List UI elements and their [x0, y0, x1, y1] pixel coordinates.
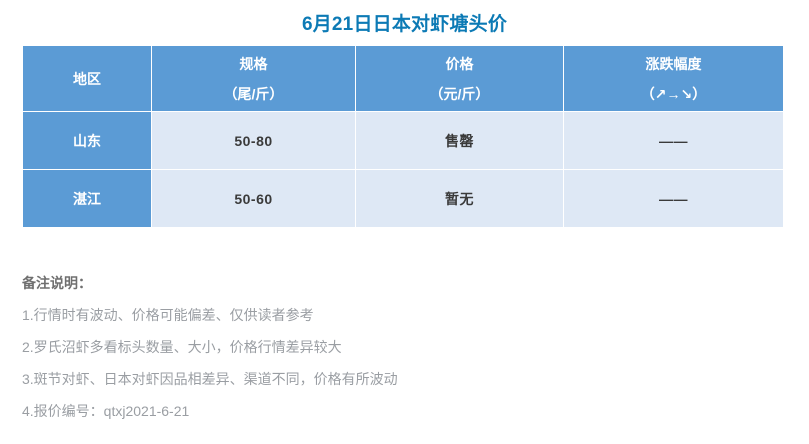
- column-header-region: 地区: [23, 46, 152, 112]
- price-report-page: 6月21日日本对虾塘头价 地区 规格 （尾/斤） 价格 （元/斤） 涨跌幅度: [0, 0, 809, 444]
- notes-title: 备注说明：: [22, 267, 722, 299]
- table-header-row: 地区 规格 （尾/斤） 价格 （元/斤） 涨跌幅度 （↗→↘）: [23, 46, 784, 112]
- cell-spec: 50-60: [152, 170, 356, 228]
- cell-region: 湛江: [23, 170, 152, 228]
- price-table: 地区 规格 （尾/斤） 价格 （元/斤） 涨跌幅度 （↗→↘） 山东 50-80…: [22, 45, 784, 228]
- cell-price: 售罄: [356, 112, 564, 170]
- cell-change: ——: [564, 112, 784, 170]
- column-header-spec-unit: （尾/斤）: [152, 79, 355, 109]
- trend-arrows-icon: （↗→↘）: [564, 79, 783, 109]
- note-item: 1.行情时有波动、价格可能偏差、仅供读者参考: [22, 299, 722, 331]
- note-item: 2.罗氏沼虾多看标头数量、大小，价格行情差异较大: [22, 331, 722, 363]
- column-header-price-label: 价格: [356, 49, 563, 79]
- page-title: 6月21日日本对虾塘头价: [0, 12, 809, 38]
- column-header-price: 价格 （元/斤）: [356, 46, 564, 112]
- column-header-spec: 规格 （尾/斤）: [152, 46, 356, 112]
- table-row: 山东 50-80 售罄 ——: [23, 112, 784, 170]
- cell-price: 暂无: [356, 170, 564, 228]
- column-header-change-label: 涨跌幅度: [564, 49, 783, 79]
- cell-spec: 50-80: [152, 112, 356, 170]
- notes-section: 备注说明： 1.行情时有波动、价格可能偏差、仅供读者参考 2.罗氏沼虾多看标头数…: [22, 267, 722, 427]
- cell-region: 山东: [23, 112, 152, 170]
- table-row: 湛江 50-60 暂无 ——: [23, 170, 784, 228]
- column-header-change: 涨跌幅度 （↗→↘）: [564, 46, 784, 112]
- column-header-spec-label: 规格: [152, 49, 355, 79]
- cell-change: ——: [564, 170, 784, 228]
- note-item: 4.报价编号：qtxj2021-6-21: [22, 395, 722, 427]
- note-item: 3.斑节对虾、日本对虾因品相差异、渠道不同，价格有所波动: [22, 363, 722, 395]
- column-header-price-unit: （元/斤）: [356, 79, 563, 109]
